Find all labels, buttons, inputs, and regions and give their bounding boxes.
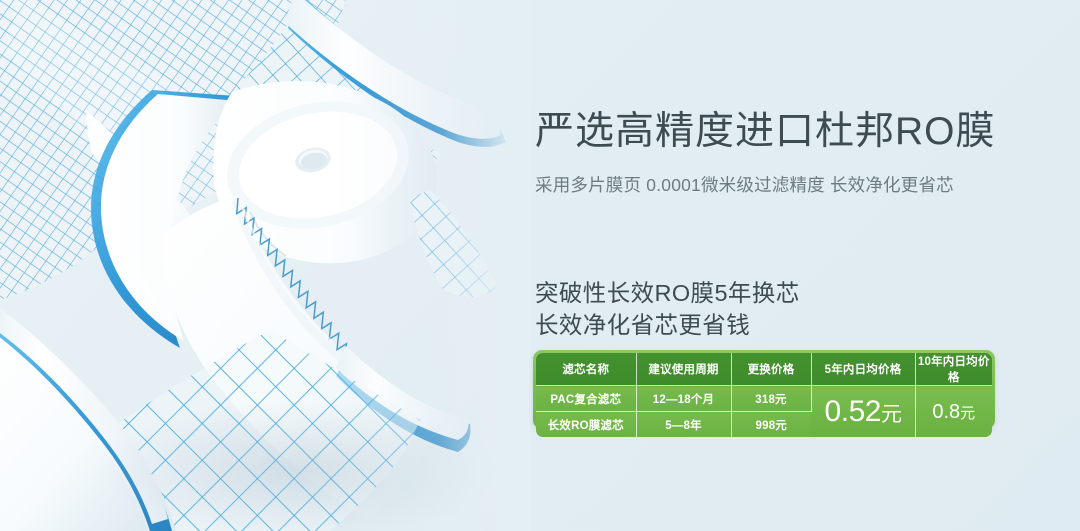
daily-price-10y-value: 0.8 [932, 402, 960, 422]
cell-filter-name: PAC复合滤芯 [536, 386, 636, 412]
page-title: 严选高精度进口杜邦RO膜 [535, 110, 996, 154]
cell-service-cycle: 5—8年 [636, 412, 731, 438]
promo-banner: 严选高精度进口杜邦RO膜 采用多片膜页 0.0001微米级过滤精度 长效净化更省… [0, 0, 1080, 531]
daily-price-5y-unit: 元 [881, 404, 902, 425]
subheading-line-2: 长效净化省芯更省钱 [535, 309, 800, 341]
column-header-daily-5y: 5年内日均价格 [811, 353, 915, 386]
subheading-line-1: 突破性长效RO膜5年换芯 [535, 277, 800, 309]
price-comparison-card: 滤芯名称 建议使用周期 更换价格 5年内日均价格 10年内日均价格 PAC复合滤… [533, 350, 995, 429]
ro-membrane-roll-photo [0, 0, 520, 531]
cell-daily-price-5y: 0.52元 [811, 386, 915, 438]
column-header-filter-name: 滤芯名称 [536, 353, 636, 386]
daily-price-10y-unit: 元 [960, 406, 975, 421]
cell-service-cycle: 12—18个月 [636, 386, 731, 412]
section-subheading: 突破性长效RO膜5年换芯 长效净化省芯更省钱 [535, 277, 800, 342]
cell-filter-name: 长效RO膜滤芯 [536, 412, 636, 438]
daily-price-5y-value: 0.52 [825, 397, 881, 427]
content-column: 严选高精度进口杜邦RO膜 采用多片膜页 0.0001微米级过滤精度 长效净化更省… [533, 0, 1080, 531]
column-header-replace-price: 更换价格 [731, 353, 811, 386]
column-header-service-cycle: 建议使用周期 [636, 353, 731, 386]
hero-subtitle: 采用多片膜页 0.0001微米级过滤精度 长效净化更省芯 [535, 174, 954, 197]
price-comparison-table: 滤芯名称 建议使用周期 更换价格 5年内日均价格 10年内日均价格 PAC复合滤… [536, 353, 992, 437]
table-header-row: 滤芯名称 建议使用周期 更换价格 5年内日均价格 10年内日均价格 [536, 353, 992, 386]
cell-replace-price: 998元 [731, 412, 811, 438]
cell-replace-price: 318元 [731, 386, 811, 412]
cell-daily-price-10y: 0.8元 [915, 386, 992, 438]
column-header-daily-10y: 10年内日均价格 [915, 353, 992, 386]
table-row: PAC复合滤芯 12—18个月 318元 0.52元 0.8元 [536, 386, 992, 412]
